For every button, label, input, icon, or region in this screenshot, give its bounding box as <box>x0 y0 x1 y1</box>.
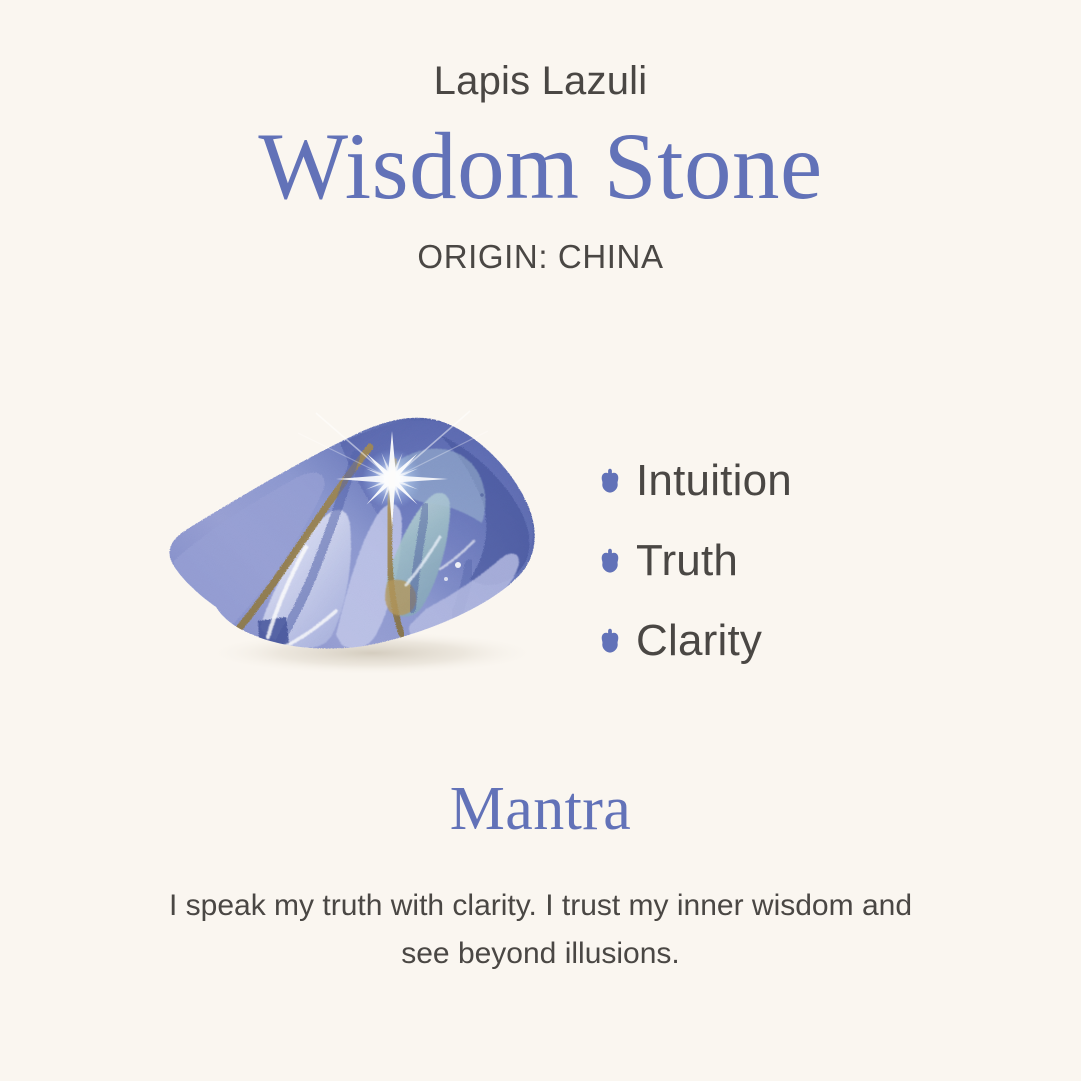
gem-bullet-icon <box>600 468 620 494</box>
card-header: Lapis Lazuli Wisdom Stone ORIGIN: CHINA <box>0 0 1081 276</box>
stone-origin: ORIGIN: CHINA <box>0 238 1081 276</box>
list-item: Truth <box>600 521 1020 601</box>
stone-info-card: Lapis Lazuli Wisdom Stone ORIGIN: CHINA <box>0 0 1081 1081</box>
mantra-section: Mantra I speak my truth with clarity. I … <box>0 772 1081 977</box>
page-title: Wisdom Stone <box>0 110 1081 222</box>
gemstone-illustration <box>140 395 570 715</box>
mantra-heading: Mantra <box>0 772 1081 846</box>
attribute-label: Intuition <box>636 459 792 503</box>
list-item: Intuition <box>600 441 1020 521</box>
lapis-lazuli-gem-svg <box>140 395 570 715</box>
attribute-label: Truth <box>636 539 738 583</box>
gem-bullet-icon <box>600 548 620 574</box>
attribute-label: Clarity <box>636 619 762 663</box>
stone-name: Lapis Lazuli <box>0 58 1081 104</box>
gem-bullet-icon <box>600 628 620 654</box>
gem-and-attributes-section: Intuition Truth Clarity <box>0 395 1081 725</box>
list-item: Clarity <box>600 601 1020 681</box>
mantra-text: I speak my truth with clarity. I trust m… <box>161 882 921 977</box>
attributes-list: Intuition Truth Clarity <box>600 441 1020 681</box>
